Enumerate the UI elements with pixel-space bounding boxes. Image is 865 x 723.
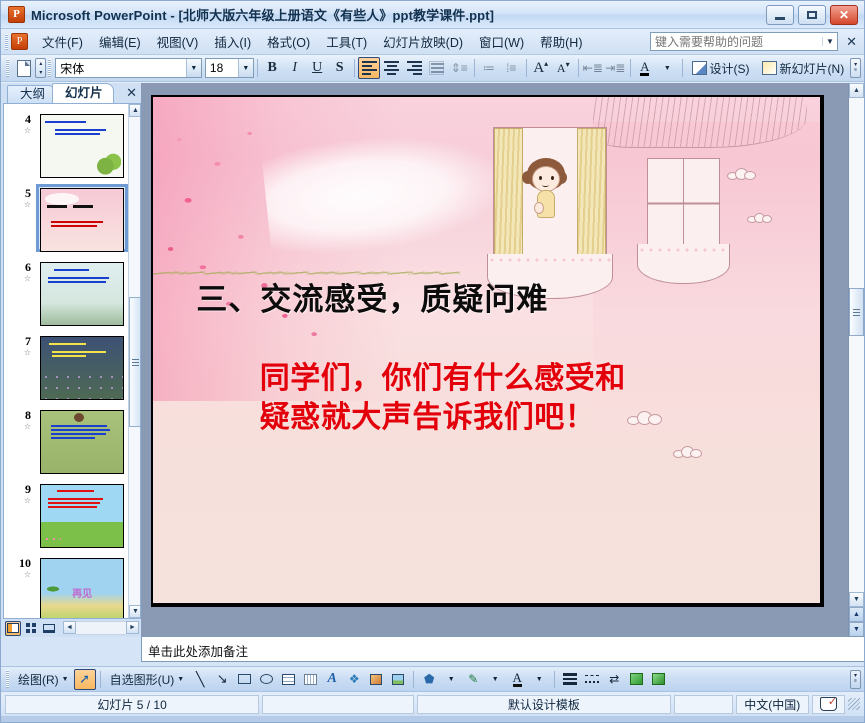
font-color-icon: A (513, 672, 522, 687)
curtain-left (494, 128, 523, 258)
toolbar-grip-1[interactable] (6, 59, 9, 77)
tab-outline[interactable]: 大纲 (7, 85, 56, 103)
toolbar-grip-2[interactable] (48, 59, 51, 77)
pane-tabs: 大纲 幻灯片 ✕ (1, 83, 141, 103)
dash-style-icon (585, 675, 599, 683)
chevron-down-icon[interactable]: ▼ (238, 59, 253, 77)
menu-edit[interactable]: 编辑(E) (91, 29, 149, 54)
previous-slide-button[interactable]: ▲ (849, 607, 864, 622)
thumb-number: 5 (6, 184, 36, 201)
shadow-button[interactable]: S (328, 57, 351, 79)
shadow-style-button[interactable] (625, 669, 647, 690)
bold-button[interactable]: B (261, 57, 284, 79)
view-slideshow-button[interactable] (41, 621, 57, 636)
slides-pane: 大纲 幻灯片 ✕ 4 ☆ (1, 83, 141, 637)
numbering-icon: ≔ (483, 61, 495, 75)
powerpoint-icon: P (8, 6, 25, 23)
main-area: 大纲 幻灯片 ✕ 4 ☆ (1, 83, 864, 637)
slide-canvas[interactable]: 三、交流感受，质疑问难 同学们，你们有什么感受和 疑惑就大声告诉我们吧！ (153, 97, 820, 603)
close-pane-icon[interactable]: ✕ (126, 85, 137, 101)
thumb-meta-icon: ☆ (6, 423, 36, 431)
chevron-down-icon: ▼ (448, 676, 455, 683)
new-slide-label: 新幻灯片(N) (780, 60, 845, 77)
font-size-value: 18 (210, 61, 238, 75)
slide-scroll-track[interactable] (849, 98, 864, 592)
line-color-dropdown[interactable]: ▼ (484, 669, 506, 690)
increase-font-size-button[interactable]: A▴ (530, 57, 553, 79)
rectangle-tool-button[interactable] (233, 669, 255, 690)
list-item[interactable]: 8 ☆ (6, 406, 128, 474)
chevron-down-icon: ▼ (664, 65, 671, 72)
resize-grip[interactable] (848, 698, 860, 710)
increase-indent-icon: ⇥≣ (605, 61, 625, 75)
thumbnail-panel: 4 ☆ 5 ☆ (3, 103, 141, 619)
font-name-combo[interactable]: 宋体 ▼ (55, 58, 202, 78)
eye-right (551, 176, 554, 180)
font-color-button-draw[interactable]: A (506, 669, 528, 690)
close-button[interactable]: ✕ (830, 5, 858, 25)
maximize-button[interactable] (798, 5, 826, 25)
powerpoint-window: P Microsoft PowerPoint - [北师大版六年级上册语文《有些… (0, 0, 865, 723)
new-document-button[interactable] (13, 57, 36, 79)
minimize-button[interactable] (766, 5, 794, 25)
close-document-icon[interactable]: ✕ (846, 34, 857, 50)
thumb-meta-icon: ☆ (6, 127, 36, 135)
scroll-up-icon[interactable]: ▲ (129, 104, 141, 117)
slide-title-text[interactable]: 三、交流感受，质疑问难 (196, 274, 548, 319)
document-control-icon[interactable]: P (11, 33, 28, 50)
numbering-button[interactable]: ≔ (477, 57, 500, 79)
align-right-button[interactable] (403, 57, 426, 79)
dash-style-button[interactable] (581, 669, 603, 690)
align-center-button[interactable] (380, 57, 403, 79)
italic-button[interactable]: I (283, 57, 306, 79)
thumbnail-scrollbar[interactable]: ▲ ▼ (128, 104, 141, 618)
font-color-icon: A (640, 61, 649, 76)
scroll-down-icon[interactable]: ▼ (849, 592, 864, 607)
list-item[interactable]: 4 ☆ (6, 110, 128, 178)
font-color-dropdown-draw[interactable]: ▼ (528, 669, 550, 690)
vertical-text-box-button[interactable] (299, 669, 321, 690)
select-objects-button[interactable]: ➚ (74, 669, 96, 690)
increase-font-icon: A▴ (533, 59, 548, 77)
formatting-toolbar: ▴▾ 宋体 ▼ 18 ▼ B I U S ⇕≡ ≔ ⁞≡ (1, 55, 864, 82)
menu-file[interactable]: 文件(F) (34, 29, 91, 54)
thumb-image[interactable] (40, 262, 124, 326)
thumb-number: 8 (6, 406, 36, 423)
body-line-2: 疑惑就大声告诉我们吧！ (260, 399, 740, 437)
close-icon: ✕ (839, 8, 849, 22)
help-search-input[interactable] (651, 35, 822, 49)
menu-bar: P 文件(F) 编辑(E) 视图(V) 插入(I) 格式(O) 工具(T) 幻灯… (1, 29, 864, 55)
arrow-style-button[interactable]: ⇄ (603, 669, 625, 690)
design-template-status: 默认设计模板 (417, 695, 671, 714)
thumb-meta-icon: ☆ (6, 275, 36, 283)
bold-icon: B (267, 60, 276, 76)
title-bar: P Microsoft PowerPoint - [北师大版六年级上册语文《有些… (1, 1, 864, 29)
3d-style-icon (652, 673, 665, 685)
chevron-down-icon: ▼ (536, 676, 543, 683)
white-streak-decor (261, 125, 511, 261)
align-justify-button[interactable] (425, 57, 448, 79)
thumb-number: 7 (6, 332, 36, 349)
oval-tool-button[interactable] (255, 669, 277, 690)
pane-hscrollbar[interactable]: ◄ ► (63, 621, 139, 635)
thumb-image[interactable] (40, 484, 124, 548)
spellcheck-icon (820, 697, 837, 711)
text-box-icon (282, 674, 295, 685)
line-style-icon (563, 673, 577, 685)
scroll-down-icon[interactable]: ▼ (129, 605, 141, 618)
thumb-meta-icon: ☆ (6, 497, 36, 505)
bullets-icon: ⁞≡ (506, 61, 516, 75)
decrease-indent-icon: ⇤≣ (583, 61, 603, 75)
menu-tools[interactable]: 工具(T) (318, 29, 375, 54)
chevron-down-icon[interactable]: ▼ (822, 37, 837, 46)
notes-placeholder: 单击此处添加备注 (148, 645, 248, 659)
line-spacing-button[interactable]: ⇕≡ (448, 57, 471, 79)
font-color-dropdown[interactable]: ▼ (656, 57, 679, 79)
thumb-image[interactable] (40, 114, 124, 178)
fill-color-button[interactable]: ⬟ (418, 669, 440, 690)
thumb-image[interactable] (40, 410, 124, 474)
wordart-button[interactable]: A (321, 669, 343, 690)
bullets-button[interactable]: ⁞≡ (500, 57, 523, 79)
fill-color-dropdown[interactable]: ▼ (440, 669, 462, 690)
window-sill-right (637, 244, 730, 284)
align-left-button[interactable] (358, 57, 381, 79)
new-document-icon (17, 60, 31, 77)
list-item[interactable]: 10 ☆ 再见 (6, 554, 128, 619)
slide-scrollbar[interactable]: ▲ ▼ ▲ ▼ (848, 83, 864, 637)
design-button[interactable]: 设计(S) (686, 57, 756, 79)
align-left-icon (362, 61, 377, 75)
normal-view-icon (7, 623, 19, 633)
line-tool-icon: ╲ (196, 671, 204, 688)
notes-pane[interactable]: 单击此处添加备注 (141, 636, 864, 662)
design-label: 设计(S) (710, 60, 750, 77)
new-slide-icon (762, 61, 777, 75)
line-color-button[interactable]: ✎ (462, 669, 484, 690)
next-slide-button[interactable]: ▼ (849, 622, 864, 637)
curtain-right (577, 128, 606, 258)
view-normal-button[interactable] (5, 621, 21, 636)
thumb-meta-icon: ☆ (6, 571, 36, 579)
font-name-value: 宋体 (60, 60, 186, 77)
view-slide-sorter-button[interactable] (23, 621, 39, 636)
menu-insert[interactable]: 插入(I) (206, 29, 259, 54)
menu-view[interactable]: 视图(V) (149, 29, 207, 54)
line-color-icon: ✎ (468, 672, 478, 686)
shadow-style-icon (630, 673, 643, 685)
thumb-image[interactable] (40, 336, 124, 400)
slide-editing-area: 三、交流感受，质疑问难 同学们，你们有什么感受和 疑惑就大声告诉我们吧！ ▲ ▼ (141, 83, 864, 637)
scroll-right-icon[interactable]: ► (126, 621, 139, 634)
menu-slideshow[interactable]: 幻灯片放映(D) (375, 29, 471, 54)
window-title: Microsoft PowerPoint - [北师大版六年级上册语文《有些人》… (31, 5, 494, 24)
3d-style-button[interactable] (647, 669, 669, 690)
chevron-down-icon: ▼ (177, 676, 184, 683)
scroll-track[interactable] (129, 117, 141, 605)
menu-format[interactable]: 格式(O) (259, 29, 318, 54)
vertical-text-icon (304, 674, 317, 685)
status-blank-1 (262, 695, 414, 714)
drawing-toolbar: 绘图(R)▼ ➚ 自选图形(U)▼ ╲ ↘ A ❖ ⬟ ▼ ✎ ▼ A (1, 666, 864, 691)
hscroll-track[interactable] (76, 621, 126, 635)
decrease-font-icon: A▾ (557, 60, 570, 76)
arm (534, 202, 544, 214)
thumbnail-list: 4 ☆ 5 ☆ (4, 104, 128, 618)
picture-icon (392, 674, 404, 685)
text-box-button[interactable] (277, 669, 299, 690)
menu-grip[interactable] (5, 34, 8, 50)
window-pane (648, 159, 719, 248)
line-style-button[interactable] (559, 669, 581, 690)
list-item[interactable]: 6 ☆ (6, 258, 128, 326)
tab-slides[interactable]: 幻灯片 (52, 83, 114, 103)
scroll-left-icon[interactable]: ◄ (63, 621, 76, 634)
slide-body-text[interactable]: 同学们，你们有什么感受和 疑惑就大声告诉我们吧！ (260, 360, 740, 437)
underline-icon: U (312, 60, 322, 76)
slide-frame: 三、交流感受，质疑问难 同学们，你们有什么感受和 疑惑就大声告诉我们吧！ (151, 95, 824, 607)
status-blank-2 (674, 695, 733, 714)
language-status[interactable]: 中文(中国) (736, 695, 809, 714)
arrow-tool-button[interactable]: ↘ (211, 669, 233, 690)
toolbar-spinner-1[interactable]: ▴▾ (35, 58, 46, 78)
thumb-number: 9 (6, 480, 36, 497)
body-line-1: 同学们，你们有什么感受和 (260, 360, 740, 398)
thumb-number: 6 (6, 258, 36, 275)
slide-viewport: 三、交流感受，质疑问难 同学们，你们有什么感受和 疑惑就大声告诉我们吧！ (141, 83, 848, 637)
menu-window[interactable]: 窗口(W) (471, 29, 532, 54)
autoshapes-button[interactable]: 自选图形(U)▼ (105, 669, 190, 690)
picture-button[interactable] (387, 669, 409, 690)
list-item[interactable]: 7 ☆ (6, 332, 128, 400)
text-shadow-icon: S (336, 60, 344, 76)
scroll-up-icon[interactable]: ▲ (849, 83, 864, 98)
slide-counter: 幻灯片 5 / 10 (5, 695, 259, 714)
roof-decor (593, 97, 806, 148)
align-center-icon (384, 61, 399, 75)
clipart-icon (370, 674, 382, 685)
thumb-image[interactable]: 再见 (40, 558, 124, 619)
chevron-down-icon: ▼ (62, 676, 69, 683)
line-tool-button[interactable]: ╲ (189, 669, 211, 690)
font-size-combo[interactable]: 18 ▼ (205, 58, 254, 78)
help-search-box[interactable]: ▼ (650, 32, 838, 51)
window-bottom-edge (1, 716, 864, 722)
demote-button[interactable]: ⇥≣ (604, 57, 627, 79)
cloud-icon (747, 213, 773, 224)
view-buttons-bar: ◄ ► (1, 619, 141, 637)
window-closed-decor (647, 158, 720, 249)
font-color-button[interactable]: A (634, 57, 657, 79)
oval-tool-icon (260, 674, 273, 684)
promote-button[interactable]: ⇤≣ (582, 57, 605, 79)
new-slide-button[interactable]: 新幻灯片(N) (756, 57, 851, 79)
face (532, 166, 560, 192)
slideshow-icon (43, 624, 55, 633)
rectangle-tool-icon (238, 674, 251, 684)
drawbar-grip[interactable] (6, 670, 9, 688)
diagram-icon: ❖ (349, 672, 360, 686)
thumb-meta-icon: ☆ (6, 349, 36, 357)
menu-help[interactable]: 帮助(H) (532, 29, 590, 54)
wordart-icon: A (328, 671, 337, 687)
thumb-number: 4 (6, 110, 36, 127)
draw-label: 绘图(R) (18, 671, 59, 688)
slide-sorter-icon (26, 623, 36, 633)
window-controls: ✕ (766, 5, 858, 25)
align-justify-icon (429, 61, 444, 75)
list-item[interactable]: 9 ☆ (6, 480, 128, 548)
scroll-thumb[interactable] (129, 297, 141, 427)
chevron-down-icon[interactable]: ▼ (186, 59, 201, 77)
line-spacing-icon: ⇕≡ (451, 61, 468, 75)
arrow-tool-icon: ↘ (217, 671, 228, 687)
autoshapes-label: 自选图形(U) (110, 671, 175, 688)
girl-illustration (523, 158, 571, 220)
arrow-select-icon: ➚ (79, 671, 90, 687)
cloud-icon (727, 168, 757, 181)
diagram-button[interactable]: ❖ (343, 669, 365, 690)
cloud-icon (673, 446, 703, 459)
toolbar-overflow-button[interactable]: ▾≡ (850, 58, 861, 78)
spellcheck-status[interactable] (812, 695, 845, 714)
thumb-meta-icon: ☆ (6, 201, 36, 209)
underline-button[interactable]: U (306, 57, 329, 79)
align-right-icon (407, 61, 422, 75)
thumb-image-selected[interactable] (40, 188, 124, 252)
drawbar-overflow-button[interactable]: ▾≡ (850, 670, 861, 689)
mouth (542, 183, 549, 187)
fill-color-icon: ⬟ (424, 672, 434, 686)
thumb-number: 10 (6, 554, 36, 571)
clipart-button[interactable] (365, 669, 387, 690)
italic-icon: I (292, 60, 297, 76)
sill-flowers (488, 256, 613, 264)
list-item[interactable]: 5 ☆ (6, 184, 128, 252)
decrease-font-size-button[interactable]: A▾ (552, 57, 575, 79)
status-bar: 幻灯片 5 / 10 默认设计模板 中文(中国) (1, 691, 864, 716)
arrow-style-icon: ⇄ (609, 672, 619, 686)
eye-left (539, 176, 542, 180)
slide-scroll-thumb[interactable] (849, 288, 864, 336)
design-icon (692, 61, 707, 75)
sill-flowers (638, 246, 729, 254)
draw-menu-button[interactable]: 绘图(R)▼ (13, 669, 74, 690)
chevron-down-icon: ▼ (492, 676, 499, 683)
